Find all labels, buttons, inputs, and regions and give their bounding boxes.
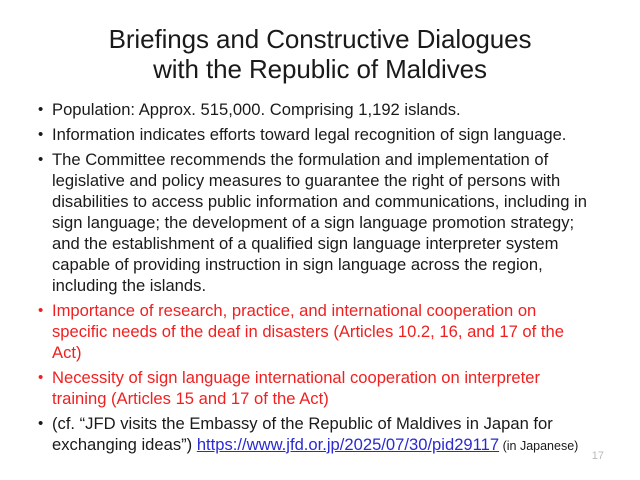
- slide-body: • Population: Approx. 515,000. Comprisin…: [30, 99, 610, 461]
- reference-language-note: (in Japanese): [499, 439, 578, 453]
- bullet-text-disaster-cooperation: Importance of research, practice, and in…: [52, 300, 610, 363]
- bullet-dot-icon: •: [30, 124, 52, 145]
- bullet-item-disaster-cooperation: • Importance of research, practice, and …: [30, 300, 610, 363]
- bullet-dot-icon: •: [30, 149, 52, 170]
- bullet-item-committee-recommendation: • The Committee recommends the formulati…: [30, 149, 610, 296]
- bullet-item-reference-link: • (cf. “JFD visits the Embassy of the Re…: [30, 413, 610, 457]
- page-number: 17: [592, 450, 604, 462]
- bullet-dot-icon: •: [30, 413, 52, 434]
- bullet-item-interpreter-training: • Necessity of sign language internation…: [30, 367, 610, 409]
- bullet-dot-icon: •: [30, 300, 52, 321]
- bullet-text-population: Population: Approx. 515,000. Comprising …: [52, 99, 610, 120]
- jfd-article-link[interactable]: https://www.jfd.or.jp/2025/07/30/pid2911…: [197, 435, 499, 454]
- bullet-item-population: • Population: Approx. 515,000. Comprisin…: [30, 99, 610, 120]
- presentation-slide: Briefings and Constructive Dialogues wit…: [0, 0, 640, 480]
- bullet-text-reference-link: (cf. “JFD visits the Embassy of the Repu…: [52, 413, 610, 457]
- bullet-text-legal-recognition: Information indicates efforts toward leg…: [52, 124, 610, 145]
- bullet-text-committee-recommendation: The Committee recommends the formulation…: [52, 149, 610, 296]
- bullet-dot-icon: •: [30, 367, 52, 388]
- slide-title-line-1: Briefings and Constructive Dialogues: [38, 24, 602, 54]
- bullet-dot-icon: •: [30, 99, 52, 120]
- slide-title-line-2: with the Republic of Maldives: [38, 54, 602, 84]
- bullet-item-legal-recognition: • Information indicates efforts toward l…: [30, 124, 610, 145]
- bullet-text-interpreter-training: Necessity of sign language international…: [52, 367, 610, 409]
- slide-title: Briefings and Constructive Dialogues wit…: [38, 24, 602, 84]
